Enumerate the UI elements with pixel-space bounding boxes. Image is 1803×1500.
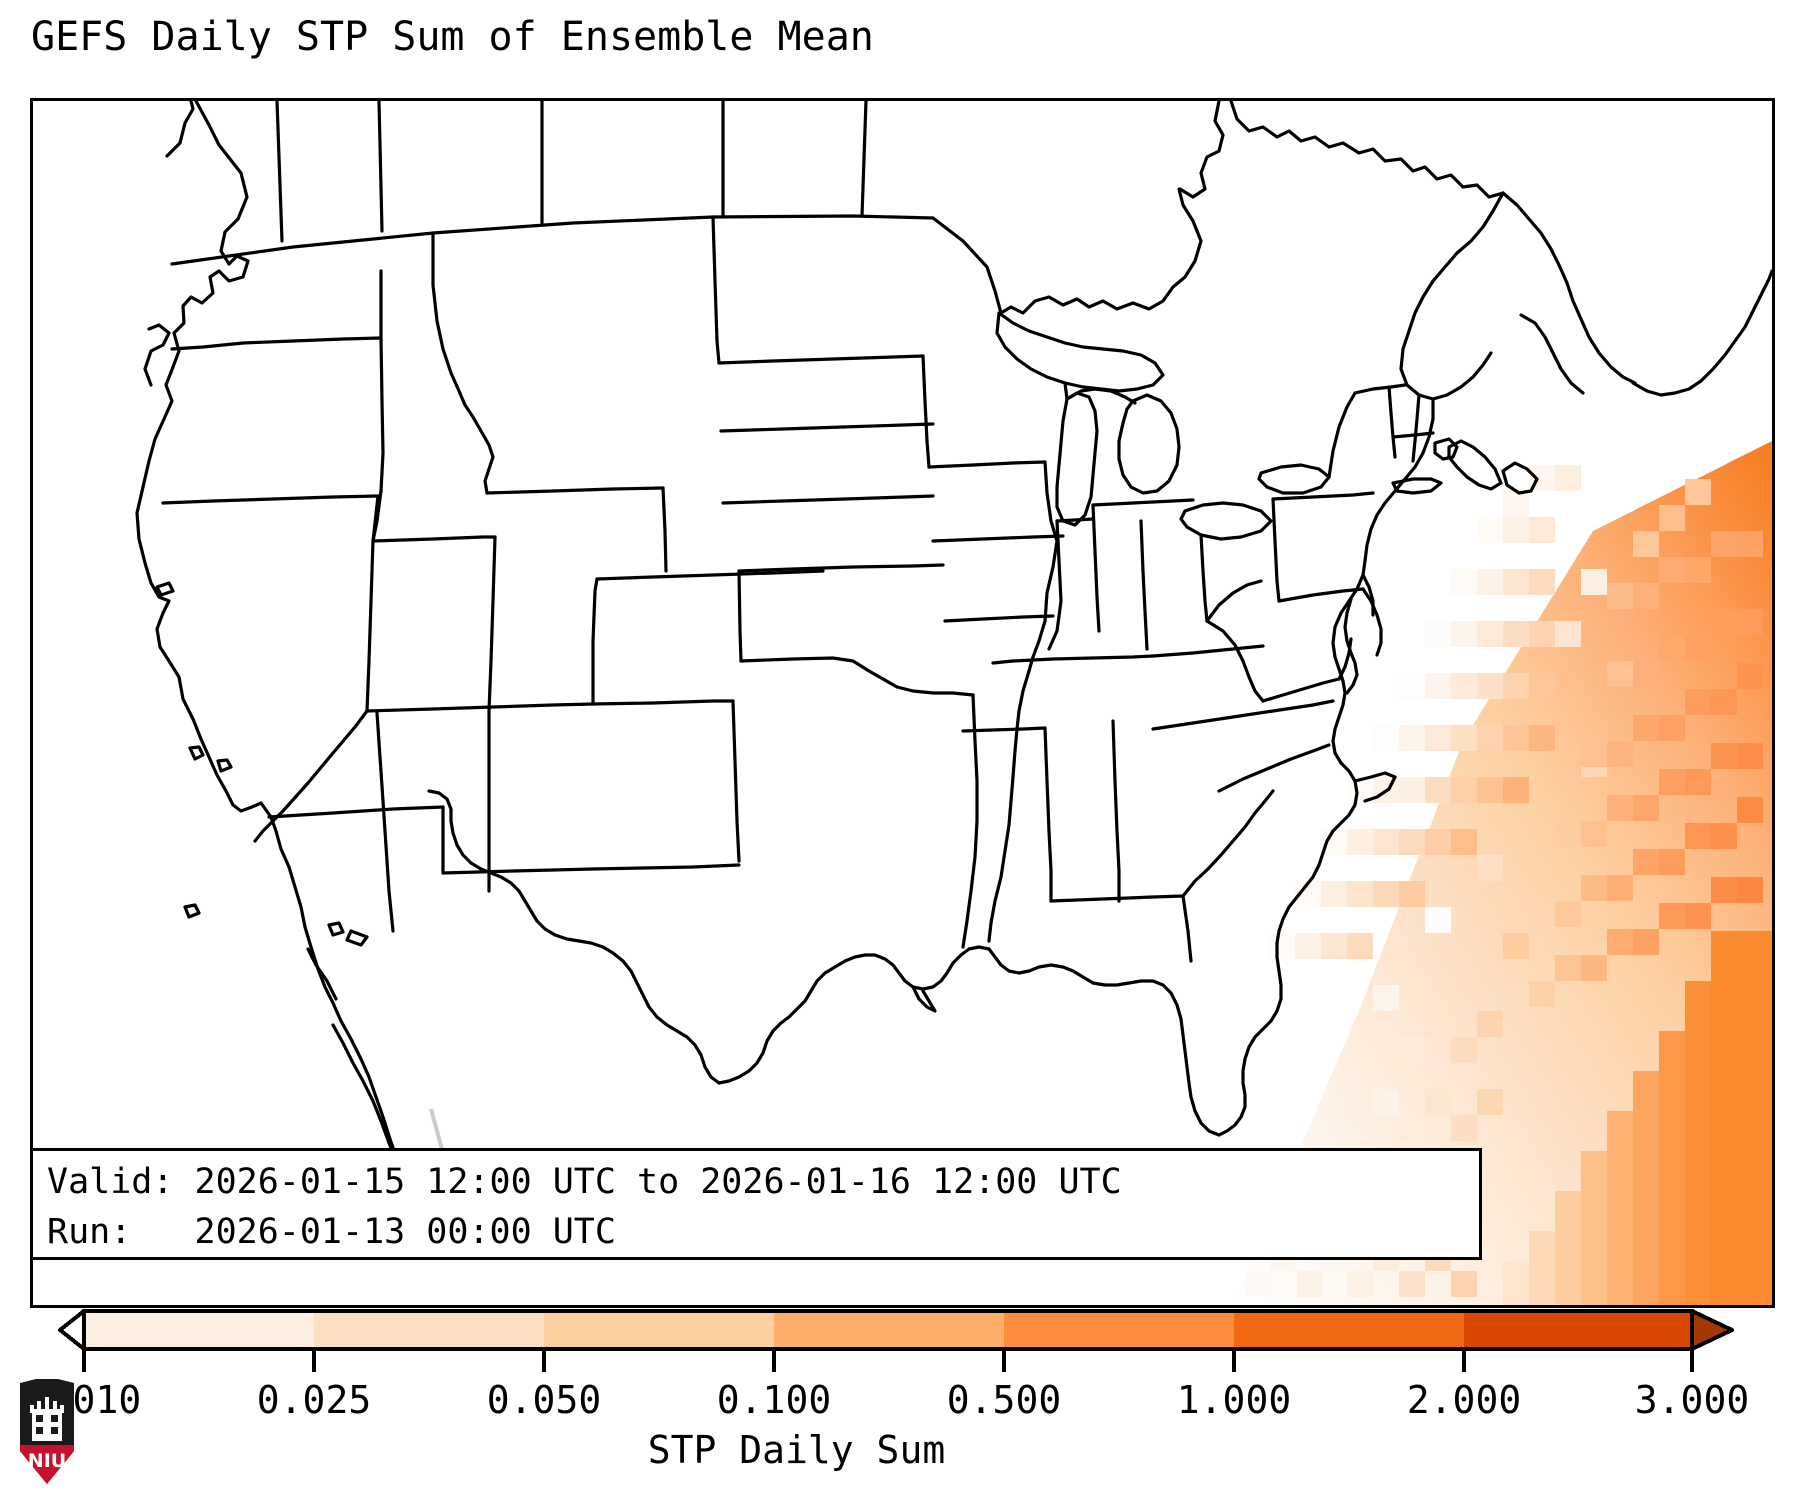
colorbar-bands — [84, 1311, 1692, 1349]
colorbar-tick-1: 0.025 — [257, 1378, 371, 1422]
colorbar-axis-label: STP Daily Sum — [648, 1428, 945, 1472]
map-svg — [33, 101, 1772, 1305]
colorbar-tick-5: 1.000 — [1177, 1378, 1291, 1422]
colorbar-ticks — [84, 1349, 1692, 1372]
colorbar-extend-left — [60, 1311, 84, 1349]
colorbar — [0, 1308, 1803, 1378]
run-time-line: Run: 2026-01-13 00:00 UTC — [47, 1207, 1479, 1257]
map-axes-frame — [30, 98, 1775, 1308]
colorbar-tick-labels: 0.010 0.025 0.050 0.100 0.500 1.000 2.00… — [0, 1378, 1803, 1428]
map-canvas — [33, 101, 1772, 1305]
colorbar-tick-6: 2.000 — [1407, 1378, 1521, 1422]
colorbar-tick-4: 0.500 — [947, 1378, 1061, 1422]
colorbar-tick-2: 0.050 — [487, 1378, 601, 1422]
colorbar-axis-label-wrap: STP Daily Sum — [0, 1428, 1803, 1472]
valid-time-line: Valid: 2026-01-15 12:00 UTC to 2026-01-1… — [47, 1157, 1479, 1207]
colorbar-tick-3: 0.100 — [717, 1378, 831, 1422]
page-title: GEFS Daily STP Sum of Ensemble Mean — [31, 14, 874, 60]
niu-logo-text: NIU — [28, 1450, 66, 1472]
colorbar-tick-7: 3.000 — [1635, 1378, 1749, 1422]
colorbar-extend-right — [1692, 1311, 1732, 1349]
forecast-info-box: Valid: 2026-01-15 12:00 UTC to 2026-01-1… — [30, 1148, 1482, 1260]
colorbar-svg — [0, 1308, 1803, 1378]
niu-logo: NIU — [16, 1379, 78, 1484]
